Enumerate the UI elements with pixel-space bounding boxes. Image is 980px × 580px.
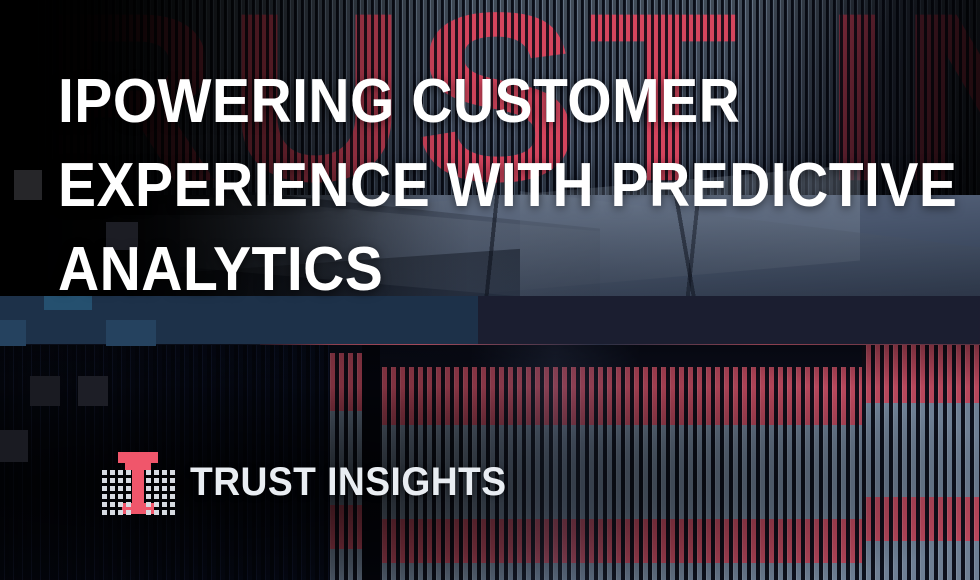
logo-grid-dot — [170, 502, 175, 507]
logo-grid-dot — [118, 486, 123, 491]
brand-logo[interactable]: TRUST INSIGHTS — [100, 448, 530, 518]
logo-grid-dot — [102, 470, 107, 475]
square-blue-1 — [0, 320, 26, 346]
brand-wordmark: TRUST INSIGHTS — [190, 460, 507, 505]
logo-grid-dot — [162, 494, 167, 499]
square-dark-5 — [0, 430, 28, 462]
logo-grid-dot — [146, 470, 151, 475]
logo-grid-dot — [170, 470, 175, 475]
logo-grid-dot — [146, 478, 151, 483]
logo-grid-dot — [110, 486, 115, 491]
logo-grid-dot — [126, 486, 131, 491]
logo-grid-dot — [154, 502, 159, 507]
logo-grid-dot — [162, 486, 167, 491]
logo-grid-dot — [170, 486, 175, 491]
logo-grid-dot — [118, 478, 123, 483]
logo-grid-dot — [102, 502, 107, 507]
logo-grid-dot — [110, 478, 115, 483]
page-title-line-2: EXPERIENCE WITH PREDICTIVE — [58, 144, 886, 228]
square-dark-4 — [78, 376, 108, 406]
logo-grid-dot — [154, 478, 159, 483]
logo-grid-dot — [162, 470, 167, 475]
social-card: RUST INSIG — [0, 0, 980, 580]
square-dark-1 — [14, 170, 42, 200]
logo-grid-dot — [146, 502, 151, 507]
logo-grid-dot — [170, 494, 175, 499]
page-title-line-1: IPOWERING CUSTOMER — [58, 60, 886, 144]
logo-grid-dot — [126, 470, 131, 475]
logo-grid-dot — [162, 502, 167, 507]
square-blue-2 — [106, 320, 156, 346]
logo-grid-dot — [146, 510, 151, 515]
t-monogram-svg — [100, 448, 176, 518]
logo-grid-dot — [102, 494, 107, 499]
logo-grid-dot — [118, 494, 123, 499]
square-dark-3 — [30, 376, 60, 406]
logo-grid-dot — [162, 510, 167, 515]
logo-grid-dot — [126, 510, 131, 515]
logo-grid-dot — [146, 486, 151, 491]
logo-grid-dot — [102, 486, 107, 491]
logo-grid-dot — [110, 494, 115, 499]
logo-grid-dot — [154, 470, 159, 475]
logo-grid-dot — [118, 470, 123, 475]
page-title: IPOWERING CUSTOMER EXPERIENCE WITH PREDI… — [58, 60, 886, 312]
trust-insights-t-icon — [100, 448, 176, 518]
logo-grid-dot — [110, 470, 115, 475]
logo-grid-dot — [118, 510, 123, 515]
logo-grid-dot — [170, 510, 175, 515]
page-title-line-3: ANALYTICS — [58, 228, 886, 312]
logo-grid-dot — [126, 478, 131, 483]
logo-grid-dot — [126, 502, 131, 507]
logo-grid-dot — [102, 510, 107, 515]
logo-grid-dot — [110, 502, 115, 507]
logo-grid-dot — [110, 510, 115, 515]
logo-grid-dot — [154, 486, 159, 491]
logo-grid-dot — [146, 494, 151, 499]
logo-grid-dot — [170, 478, 175, 483]
logo-grid-dot — [154, 494, 159, 499]
logo-grid-dot — [126, 494, 131, 499]
logo-grid-dot — [162, 478, 167, 483]
logo-grid-dot — [102, 478, 107, 483]
logo-grid-dot — [154, 510, 159, 515]
logo-grid-dot — [118, 502, 123, 507]
